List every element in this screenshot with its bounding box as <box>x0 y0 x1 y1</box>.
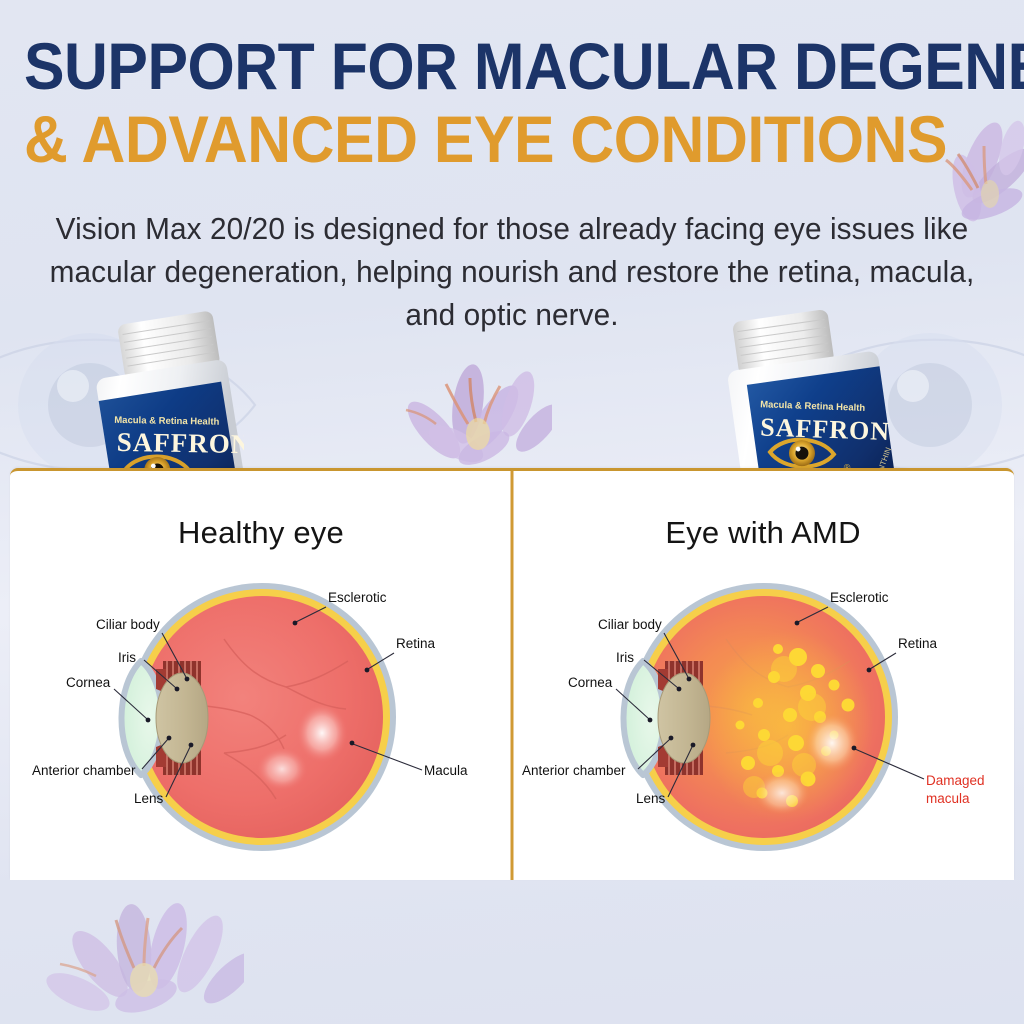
diagram-amd-eye: Esclerotic Retina Ciliar body Iris Corne… <box>512 557 1014 877</box>
infographic-canvas: SUPPORT FOR MACULAR DEGENERATION & ADVAN… <box>0 0 1024 1024</box>
panel-amd-eye: Eye with AMD <box>512 471 1014 880</box>
label-esclerotic-amd: Esclerotic <box>830 590 889 605</box>
label-anterior-chamber-amd: Anterior chamber <box>522 763 626 778</box>
label-iris-healthy: Iris <box>118 650 136 665</box>
headline-line-1: SUPPORT FOR MACULAR DEGENERATION <box>24 36 935 97</box>
label-iris-amd: Iris <box>616 650 634 665</box>
saffron-flower-center <box>372 352 552 474</box>
diagram-healthy-eye: Esclerotic Retina Ciliar body Iris <box>10 557 512 877</box>
label-anterior-chamber-healthy: Anterior chamber <box>32 763 136 778</box>
bottle-brand-right: SAFFRON <box>760 413 891 447</box>
label-damaged-macula-line1: Damaged <box>926 773 985 788</box>
saffron-flower-bottom-left <box>34 892 244 1024</box>
label-ciliar-body-healthy: Ciliar body <box>96 617 160 632</box>
label-damaged-macula-line2: macula <box>926 791 970 806</box>
panel-healthy-eye: Healthy eye <box>10 471 512 880</box>
label-cornea-amd: Cornea <box>568 675 613 690</box>
panel-title-healthy: Healthy eye <box>10 515 512 551</box>
bottle-tagline-left: Macula & Retina Health <box>114 415 219 428</box>
product-bottle-right: Macula & Retina Health SAFFRON VISION ® … <box>716 302 936 484</box>
label-retina-healthy: Retina <box>396 636 436 651</box>
headline-block: SUPPORT FOR MACULAR DEGENERATION & ADVAN… <box>24 36 1014 169</box>
label-ciliar-body-amd: Ciliar body <box>598 617 662 632</box>
label-lens-healthy: Lens <box>134 791 164 806</box>
panel-title-amd: Eye with AMD <box>512 515 1014 551</box>
headline-line-2: & ADVANCED EYE CONDITIONS <box>24 109 935 170</box>
label-cornea-healthy: Cornea <box>66 675 111 690</box>
bottle-brand-left: SAFFRON <box>117 427 244 459</box>
label-retina-amd: Retina <box>898 636 938 651</box>
eye-comparison-card: Healthy eye <box>10 468 1014 880</box>
product-bottle-left: Macula & Retina Health SAFFRON VISION <box>44 306 244 484</box>
label-lens-amd: Lens <box>636 791 666 806</box>
label-esclerotic-healthy: Esclerotic <box>328 590 387 605</box>
label-macula-healthy: Macula <box>424 763 468 778</box>
